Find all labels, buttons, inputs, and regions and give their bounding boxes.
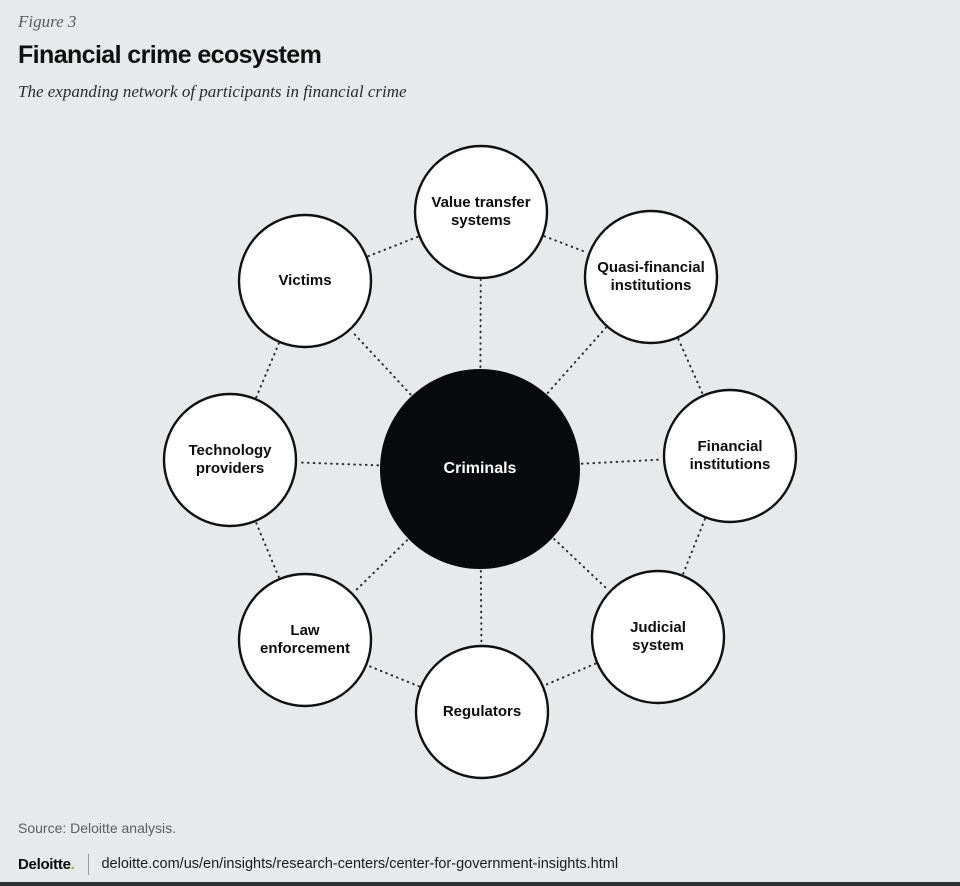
- edge-law-enforcement-to-technology-providers: [256, 523, 279, 577]
- figure-number-label: Figure 3: [18, 12, 918, 32]
- edge-criminals-to-quasi-financial-institutions: [548, 328, 606, 393]
- edge-regulators-to-law-enforcement: [368, 666, 419, 687]
- node-criminals[interactable]: Criminals: [380, 369, 580, 569]
- deloitte-logo-dot: .: [71, 856, 75, 873]
- edge-criminals-to-law-enforcement: [354, 540, 407, 592]
- figure-subtitle: The expanding network of participants in…: [18, 82, 918, 102]
- edge-criminals-to-victims: [351, 331, 410, 395]
- brand-bar: Deloitte. deloitte.com/us/en/insights/re…: [18, 852, 618, 876]
- node-law-enforcement[interactable]: Lawenforcement: [239, 574, 371, 706]
- edge-judicial-system-to-regulators: [545, 664, 596, 686]
- deloitte-logo: Deloitte.: [18, 856, 74, 873]
- center-node-group: Criminals: [380, 369, 580, 569]
- node-label-regulators: Regulators: [443, 703, 521, 720]
- ecosystem-diagram: Value transfersystemsQuasi-financialinst…: [0, 128, 960, 808]
- node-label-judicial-system: Judicialsystem: [630, 619, 686, 654]
- edge-criminals-to-judicial-system: [554, 539, 608, 590]
- node-regulators[interactable]: Regulators: [416, 646, 548, 778]
- edge-criminals-to-financial-institutions: [582, 460, 662, 464]
- edge-technology-providers-to-victims: [256, 344, 278, 398]
- node-label-technology-providers: Technologyproviders: [188, 442, 272, 477]
- node-label-victims: Victims: [278, 272, 331, 289]
- node-label-criminals: Criminals: [444, 460, 517, 477]
- node-quasi-financial-institutions[interactable]: Quasi-financialinstitutions: [585, 211, 717, 343]
- bottom-rule: [0, 882, 960, 886]
- node-technology-providers[interactable]: Technologyproviders: [164, 394, 296, 526]
- insights-url[interactable]: deloitte.com/us/en/insights/research-cen…: [101, 856, 618, 872]
- node-judicial-system[interactable]: Judicialsystem: [592, 571, 724, 703]
- edge-victims-to-value-transfer-systems: [368, 237, 417, 256]
- edge-criminals-to-technology-providers: [298, 462, 378, 465]
- page-title: Financial crime ecosystem: [18, 42, 918, 70]
- brand-divider: [88, 854, 89, 875]
- node-label-quasi-financial-institutions: Quasi-financialinstitutions: [597, 259, 705, 294]
- node-label-financial-institutions: Financialinstitutions: [690, 438, 771, 473]
- diagram-canvas: Value transfersystemsQuasi-financialinst…: [0, 128, 960, 808]
- deloitte-wordmark: Deloitte: [18, 856, 71, 873]
- node-value-transfer-systems[interactable]: Value transfersystems: [415, 146, 547, 278]
- edge-financial-institutions-to-judicial-system: [683, 519, 705, 574]
- edge-value-transfer-systems-to-quasi-financial-institutions: [545, 236, 588, 252]
- edge-quasi-financial-institutions-to-financial-institutions: [678, 339, 702, 394]
- figure-header: Figure 3 Financial crime ecosystem The e…: [18, 12, 918, 102]
- source-note: Source: Deloitte analysis.: [18, 820, 176, 836]
- node-financial-institutions[interactable]: Financialinstitutions: [664, 390, 796, 522]
- node-victims[interactable]: Victims: [239, 215, 371, 347]
- edge-criminals-to-regulators: [481, 571, 482, 644]
